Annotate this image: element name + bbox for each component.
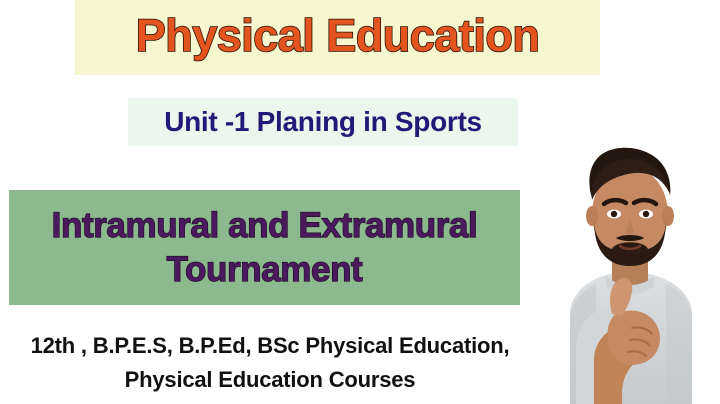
presenter-illustration	[540, 136, 720, 404]
footer-caption: 12th , B.P.E.S, B.P.Ed, BSc Physical Edu…	[0, 324, 540, 402]
footer-caption-line-2: Physical Education Courses	[125, 363, 416, 397]
page-title: Physical Education	[75, 0, 600, 73]
topic-heading-line-2: Tournament	[167, 248, 363, 292]
unit-subtitle: Unit -1 Planing in Sports	[128, 98, 518, 146]
footer-caption-line-1: 12th , B.P.E.S, B.P.Ed, BSc Physical Edu…	[31, 329, 510, 363]
presenter-photo	[540, 136, 720, 404]
topic-heading: Intramural and Extramural Tournament	[9, 190, 520, 305]
video-thumbnail: Physical Education Unit -1 Planing in Sp…	[0, 0, 720, 404]
topic-heading-line-1: Intramural and Extramural	[52, 204, 478, 248]
